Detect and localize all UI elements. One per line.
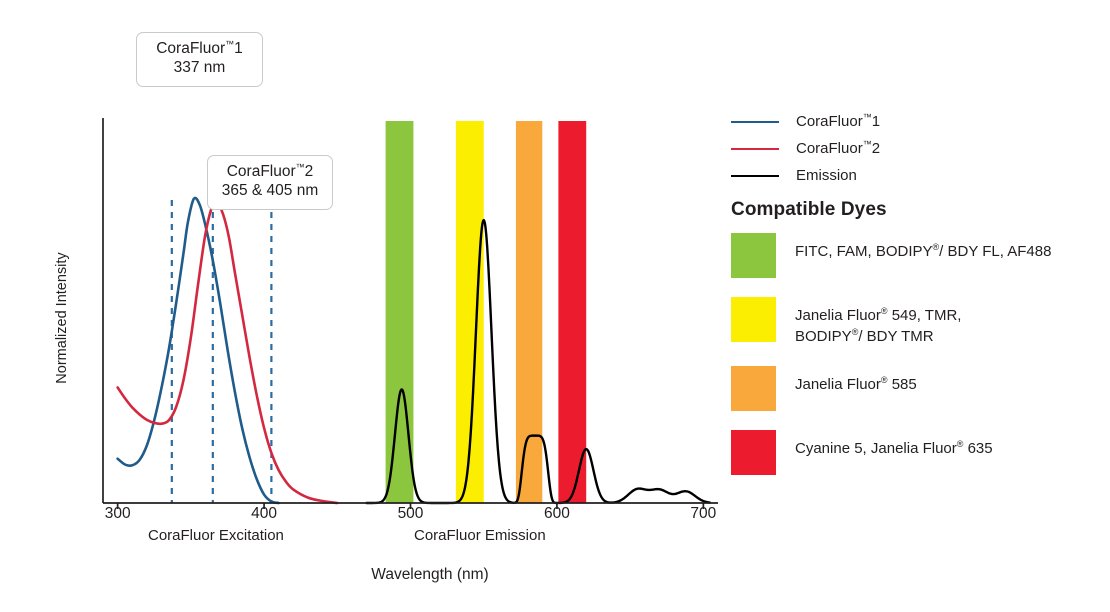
callout-cf2-index: 2 [305, 163, 314, 180]
filter-band-3 [558, 121, 586, 503]
dye-color-swatch [731, 297, 776, 342]
legend-label-index: 2 [872, 140, 880, 157]
excitation-region-label: CoraFluor Excitation [148, 527, 284, 544]
dye-row[interactable]: Cyanine 5, Janelia Fluor® 635 [731, 430, 1091, 475]
dye-color-swatch [731, 366, 776, 411]
callout-cf2-name: CoraFluor [227, 163, 296, 180]
curve-corafluor1 [118, 198, 279, 503]
callout-cf1-line1: CoraFluor™1 [149, 40, 250, 59]
callout-cf1-name: CoraFluor [156, 40, 225, 57]
dye-name-text2: BODIPY [795, 328, 852, 345]
callout-corafluor1: CoraFluor™1 337 nm [136, 32, 263, 87]
legend-corafluor1[interactable]: CoraFluor™1 [731, 108, 1071, 135]
trademark-icon: ™ [863, 112, 872, 122]
dye-name-text: Janelia Fluor [795, 376, 881, 393]
registered-icon: ® [881, 375, 888, 385]
legend-swatch-line [731, 121, 779, 123]
legend-label: CoraFluor™1 [796, 113, 880, 130]
dye-name-text: Janelia Fluor [795, 307, 881, 324]
dye-name-rest: 635 [963, 440, 992, 457]
x-tick-label-700: 700 [673, 505, 733, 523]
legend-label-index: 1 [872, 113, 880, 130]
callout-cf1-index: 1 [234, 40, 243, 57]
dye-name-rest: 549, TMR, [888, 307, 962, 324]
x-axis-title: Wavelength (nm) [300, 566, 560, 584]
dye-row[interactable]: Janelia Fluor® 549, TMR,BODIPY®/ BDY TMR [731, 297, 1091, 347]
trademark-icon: ™ [296, 162, 305, 172]
dye-name-rest: 585 [888, 376, 917, 393]
x-tick-label-600: 600 [527, 505, 587, 523]
dye-color-swatch [731, 233, 776, 278]
compatible-dyes-title: Compatible Dyes [731, 199, 887, 221]
dye-name-rest: / BDY FL, AF488 [939, 243, 1051, 260]
legend-label-text: Emission [796, 167, 857, 184]
filter-band-2 [516, 121, 542, 503]
spectra-chart: CoraFluor™1 337 nm CoraFluor™2 365 & 405… [0, 0, 1110, 612]
legend-label: Emission [796, 167, 857, 184]
excitation-marker-lines [172, 200, 272, 503]
dye-label: Janelia Fluor® 549, TMR,BODIPY®/ BDY TMR [795, 297, 961, 347]
legend-swatch-line [731, 175, 779, 177]
callout-cf2-wavelength: 365 & 405 nm [220, 182, 320, 201]
legend-corafluor2[interactable]: CoraFluor™2 [731, 135, 1071, 162]
legend-swatch-line [731, 148, 779, 150]
registered-icon: ® [881, 306, 888, 316]
series-legend: CoraFluor™1CoraFluor™2Emission [731, 108, 1071, 189]
legend-emission[interactable]: Emission [731, 162, 1071, 189]
callout-cf1-wavelength: 337 nm [149, 59, 250, 78]
emission-region-label: CoraFluor Emission [414, 527, 546, 544]
dye-name-rest2: / BDY TMR [858, 328, 933, 345]
dye-label: Cyanine 5, Janelia Fluor® 635 [795, 430, 993, 460]
x-tick-label-500: 500 [381, 505, 441, 523]
trademark-icon: ™ [863, 139, 872, 149]
y-axis-title: Normalized Intensity [54, 228, 70, 408]
legend-label: CoraFluor™2 [796, 140, 880, 157]
legend-label-text: CoraFluor [796, 113, 863, 130]
dye-label-line2: BODIPY®/ BDY TMR [795, 327, 961, 348]
spectra-curves [118, 198, 710, 503]
x-tick-label-400: 400 [234, 505, 294, 523]
trademark-icon: ™ [225, 39, 234, 49]
dye-row[interactable]: Janelia Fluor® 585 [731, 366, 1091, 411]
callout-cf2-line1: CoraFluor™2 [220, 163, 320, 182]
dye-label-line1: Janelia Fluor® 585 [795, 375, 917, 396]
dye-label: FITC, FAM, BODIPY®/ BDY FL, AF488 [795, 233, 1051, 263]
x-tick-label-300: 300 [88, 505, 148, 523]
legend-label-text: CoraFluor [796, 140, 863, 157]
dye-row[interactable]: FITC, FAM, BODIPY®/ BDY FL, AF488 [731, 233, 1091, 278]
dye-label: Janelia Fluor® 585 [795, 366, 917, 396]
compatible-dyes-list: FITC, FAM, BODIPY®/ BDY FL, AF488Janelia… [731, 233, 1091, 494]
dye-name-text: FITC, FAM, BODIPY [795, 243, 933, 260]
dye-label-line1: Cyanine 5, Janelia Fluor® 635 [795, 439, 993, 460]
dye-color-swatch [731, 430, 776, 475]
dye-name-text: Cyanine 5, Janelia Fluor [795, 440, 957, 457]
callout-corafluor2: CoraFluor™2 365 & 405 nm [207, 155, 333, 210]
dye-label-line1: FITC, FAM, BODIPY®/ BDY FL, AF488 [795, 242, 1051, 263]
dye-label-line1: Janelia Fluor® 549, TMR, [795, 306, 961, 327]
emission-filter-bands [386, 121, 587, 503]
